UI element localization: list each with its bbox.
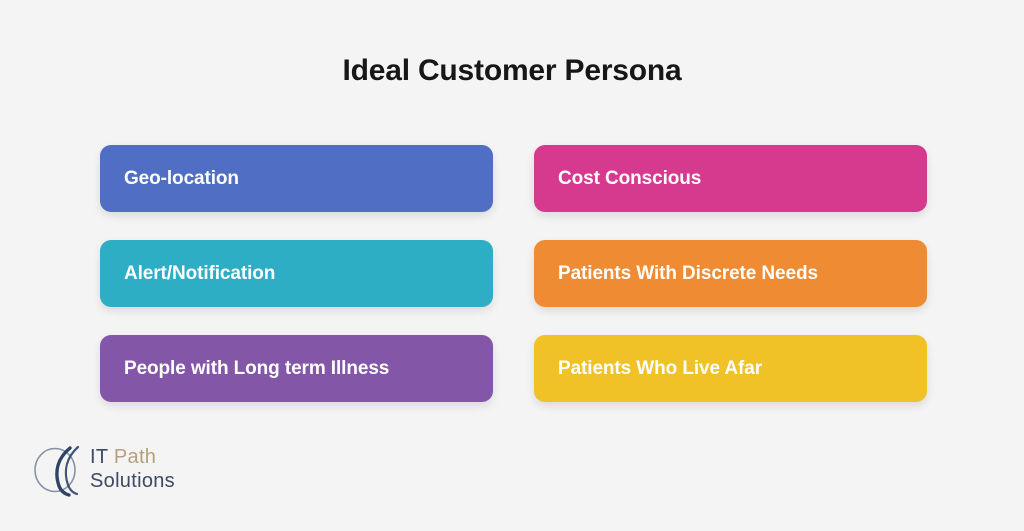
brand-line-one: IT Path	[90, 447, 175, 467]
persona-card-grid: Geo-location Cost Conscious Alert/Notifi…	[100, 145, 927, 402]
page-title: Ideal Customer Persona	[0, 52, 1024, 90]
brand-text-it: IT	[90, 446, 108, 468]
persona-card-label: Patients Who Live Afar	[558, 358, 762, 380]
dual-arc-mark-icon	[32, 441, 86, 497]
persona-card-label: Geo-location	[124, 168, 239, 190]
slide-canvas: Ideal Customer Persona Geo-location Cost…	[0, 0, 1024, 531]
brand-text-path: Path	[114, 446, 156, 468]
persona-card-alert-notification[interactable]: Alert/Notification	[100, 240, 493, 307]
persona-card-label: Alert/Notification	[124, 263, 275, 285]
persona-card-cost-conscious[interactable]: Cost Conscious	[534, 145, 927, 212]
brand-wordmark: IT Path Solutions	[90, 447, 175, 491]
persona-card-label: People with Long term Illness	[124, 358, 389, 380]
persona-card-geo-location[interactable]: Geo-location	[100, 145, 493, 212]
persona-card-patients-with-discrete-needs[interactable]: Patients With Discrete Needs	[534, 240, 927, 307]
persona-card-label: Cost Conscious	[558, 168, 701, 190]
persona-card-label: Patients With Discrete Needs	[558, 263, 818, 285]
persona-card-people-with-long-term-illness[interactable]: People with Long term Illness	[100, 335, 493, 402]
persona-card-patients-who-live-afar[interactable]: Patients Who Live Afar	[534, 335, 927, 402]
brand-logo: IT Path Solutions	[32, 441, 175, 497]
brand-text-solutions: Solutions	[90, 471, 175, 491]
